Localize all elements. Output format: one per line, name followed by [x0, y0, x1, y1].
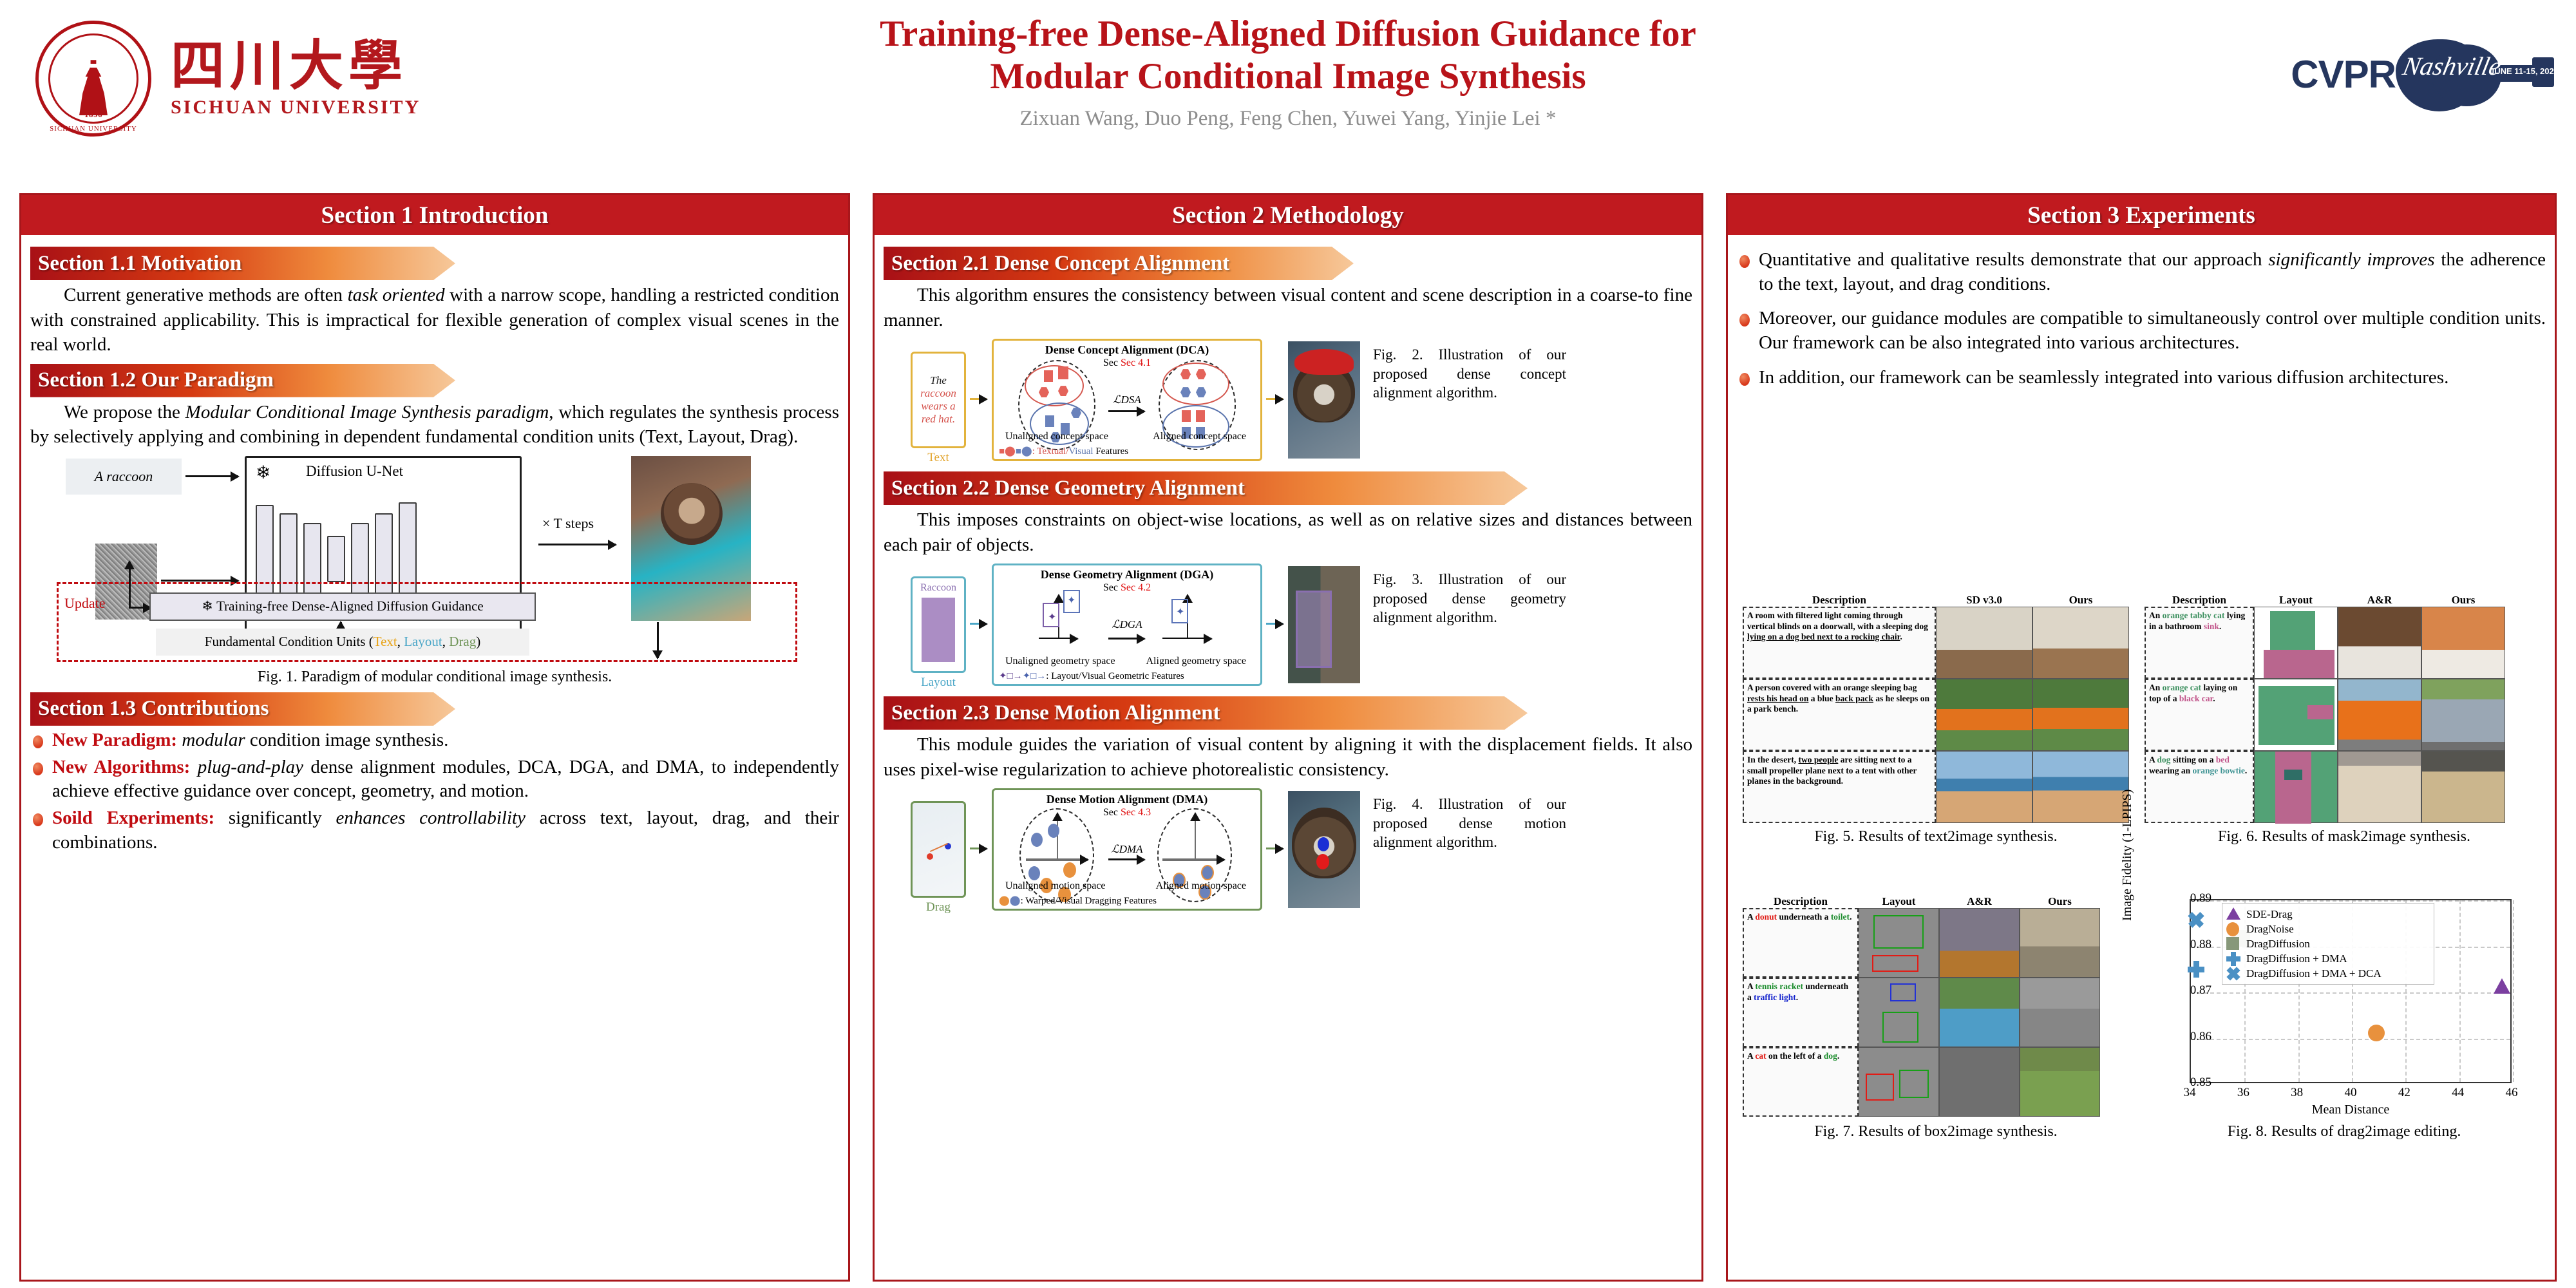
fig6-ours-2	[2421, 679, 2505, 751]
snowflake-icon-2: ❄	[202, 598, 213, 614]
cvpr-city: Nashville	[2400, 51, 2504, 81]
fig2-dca-panel: Dense Concept Alignment (DCA) Sec Sec 4.…	[992, 339, 1262, 461]
fig5-img-2b	[2032, 679, 2129, 751]
table-row: A donut underneath a toilet.	[1743, 908, 2129, 978]
experiments-list: Quantitative and qualitative results dem…	[1737, 248, 2546, 390]
chart-y-tick: 0.89	[2160, 891, 2211, 905]
legend-label: DragNoise	[2246, 923, 2294, 936]
legend-item: DragDiffusion	[2226, 936, 2430, 951]
fig7-ours-3	[2020, 1047, 2100, 1117]
fig6-ours-3	[2421, 751, 2505, 823]
col-header-ours: Ours	[2020, 895, 2100, 908]
col-header-layout: Layout	[2254, 594, 2338, 607]
figure-6-columns: Description Layout A&R Ours	[2145, 594, 2544, 607]
fig7-desc-3: A cat on the left of a dog.	[1743, 1047, 1859, 1117]
chart-y-tick: 0.87	[2160, 983, 2211, 998]
fig7-desc-1: A donut underneath a toilet.	[1743, 908, 1859, 978]
list-item: Moreover, our guidance modules are compa…	[1737, 307, 2546, 355]
fig4-legend: ⬤⬤: Warped/Visual Dragging Features	[999, 895, 1157, 907]
list-item: New Algorithms: plug-and-play dense alig…	[30, 755, 839, 804]
university-name-cn: 四川大學	[171, 39, 421, 93]
list-item: In addition, our framework can be seamle…	[1737, 366, 2546, 390]
fig5-img-2a	[1936, 679, 2032, 751]
chart-x-tick: 46	[2492, 1086, 2531, 1100]
table-row: A room with filtered light coming throug…	[1743, 607, 2129, 679]
chart-x-tick: 38	[2278, 1086, 2316, 1100]
fig1-condition-units: Fundamental Condition Units (Text, Layou…	[156, 629, 529, 656]
fig4-dma-panel: Dense Motion Alignment (DMA) Sec Sec 4.3…	[992, 788, 1262, 911]
fig6-ar-1	[2338, 607, 2421, 679]
fig4-right-label: Aligned motion space	[1156, 880, 1246, 892]
legend-item: DragDiffusion + DMA	[2226, 951, 2430, 966]
col-header-ar: A&R	[2338, 594, 2421, 607]
col-header-ar: A&R	[1939, 895, 2020, 908]
fig6-desc-2: An orange cat laying on top of a black c…	[2145, 679, 2254, 751]
legend-marker-icon	[2226, 967, 2240, 981]
fig6-ar-2	[2338, 679, 2421, 751]
fig1-guidance-box: ❄ Training-free Dense-Aligned Diffusion …	[149, 592, 536, 621]
figure-7-columns: Description Layout A&R Ours	[1743, 895, 2129, 908]
fig3-panel-title: Dense Geometry Alignment (DGA)	[994, 568, 1260, 582]
figure-6-grid: Description Layout A&R Ours An orange ta…	[2145, 594, 2544, 823]
figure-2-caption: Fig. 2. Illustration of our proposed den…	[1373, 345, 1566, 402]
fig7-layout-3	[1859, 1047, 1939, 1117]
fig6-ours-1	[2421, 607, 2505, 679]
col-header-ours: Ours	[2421, 594, 2505, 607]
fig3-legend: ✦□→✦□→: Layout/Visual Geometric Features	[999, 670, 1184, 682]
fig2-legend: ■⬤■⬤: Textual/Visual Features	[999, 445, 1128, 457]
fig1-text-input: A raccoon	[66, 459, 182, 495]
legend-label: DragDiffusion + DMA	[2246, 952, 2347, 965]
fig5-img-3a	[1936, 751, 2032, 823]
chart-y-tick: 0.88	[2160, 938, 2211, 952]
fig4-loss-label: ℒDMA	[1111, 843, 1142, 856]
chart-gridline-v	[2513, 900, 2514, 1082]
fig7-ours-2	[2020, 978, 2100, 1047]
fig2-left-label: Unaligned concept space	[1005, 431, 1108, 442]
fig2-panel-sec: Sec Sec 4.1	[994, 357, 1260, 369]
fig4-drag-input-box	[911, 801, 966, 898]
seal-arc-text: SICHUAN UNIVERSITY	[35, 125, 151, 133]
fig7-ar-1	[1939, 908, 2020, 978]
fig3-layout-input-box: Raccoon	[911, 576, 966, 673]
chart-data-point	[2368, 1025, 2385, 1041]
legend-label: DragDiffusion	[2246, 938, 2310, 951]
fig2-input-label: Text	[911, 451, 966, 465]
title-line-2: Modular Conditional Image Synthesis	[741, 55, 1835, 98]
seal-year: 1896	[84, 109, 102, 120]
legend-item: DragNoise	[2226, 922, 2430, 936]
fig2-right-label: Aligned concept space	[1153, 431, 1246, 442]
fig6-ar-3	[2338, 751, 2421, 823]
section-1-2-banner: Section 1.2 Our Paradigm	[30, 364, 455, 397]
figure-2-diagram: The raccoon wears a red hat. Text Dense …	[884, 336, 1682, 465]
fig4-left-label: Unaligned motion space	[1005, 880, 1106, 892]
fig7-ar-2	[1939, 978, 2020, 1047]
cvpr-logo: CVPR Nashville JUNE 11-15, 2025	[2222, 29, 2557, 119]
legend-marker-icon	[2226, 937, 2240, 951]
fig2-loss-label: ℒDSA	[1113, 393, 1141, 406]
chart-y-tick: 0.85	[2160, 1075, 2211, 1090]
title-block: Training-free Dense-Aligned Diffusion Gu…	[741, 13, 1835, 131]
sichuan-university-logo: 1896 SICHUAN UNIVERSITY 四川大學 SICHUAN UNI…	[35, 14, 486, 143]
legend-label: SDE-Drag	[2246, 908, 2293, 921]
chart-y-axis-label: Image Fidelity (1-LPIPS)	[2120, 790, 2135, 921]
university-seal-icon: 1896 SICHUAN UNIVERSITY	[35, 21, 151, 137]
legend-label: DragDiffusion + DMA + DCA	[2246, 967, 2382, 980]
section-2-1-text: This algorithm ensures the consistency b…	[884, 283, 1692, 332]
fig2-result-image	[1288, 341, 1360, 459]
section-1-3-banner: Section 1.3 Contributions	[30, 692, 455, 726]
table-row: In the desert, two people are sitting ne…	[1743, 751, 2129, 823]
fig5-img-1b	[2032, 607, 2129, 679]
col-header-description: Description	[1743, 594, 1936, 607]
fig3-loss-label: ℒDGA	[1112, 618, 1142, 631]
chart-x-tick: 36	[2224, 1086, 2262, 1100]
page-title: Training-free Dense-Aligned Diffusion Gu…	[741, 13, 1835, 98]
title-line-1: Training-free Dense-Aligned Diffusion Gu…	[741, 13, 1835, 55]
chart-x-tick: 44	[2439, 1086, 2477, 1100]
guitar-icon: Nashville JUNE 11-15, 2025	[2396, 35, 2557, 113]
fig5-desc-3: In the desert, two people are sitting ne…	[1743, 751, 1936, 823]
legend-marker-icon	[2226, 922, 2240, 936]
column-introduction: Section 1 Introduction Section 1.1 Motiv…	[19, 193, 850, 1282]
fig6-layout-2	[2254, 679, 2338, 751]
figure-1-caption: Fig. 1. Paradigm of modular conditional …	[30, 668, 839, 686]
author-list: Zixuan Wang, Duo Peng, Feng Chen, Yuwei …	[741, 107, 1835, 131]
fig7-ar-3	[1939, 1047, 2020, 1117]
poster-header: 1896 SICHUAN UNIVERSITY 四川大學 SICHUAN UNI…	[0, 0, 2576, 193]
fig5-desc-2: A person covered with an orange sleeping…	[1743, 679, 1936, 751]
fig1-update-label: Update	[64, 595, 106, 612]
col-header-description: Description	[1743, 895, 1859, 908]
chart-x-tick: 40	[2331, 1086, 2370, 1100]
section-1-1-text: Current generative methods are often tas…	[30, 283, 839, 357]
figure-6-caption: Fig. 6. Results of mask2image synthesis.	[2145, 828, 2544, 846]
snowflake-icon: ❄	[256, 462, 270, 484]
chart-gridline-h	[2191, 1039, 2510, 1040]
figure-8-caption: Fig. 8. Results of drag2image editing.	[2145, 1123, 2544, 1141]
col-header-ours: Ours	[2032, 594, 2129, 607]
figure-3-caption: Fig. 3. Illustration of our proposed den…	[1373, 570, 1566, 627]
figure-5-caption: Fig. 5. Results of text2image synthesis.	[1743, 828, 2129, 846]
figure-4-diagram: Drag Dense Motion Alignment (DMA) Sec Se…	[884, 786, 1682, 914]
contributions-list: New Paradigm: modular condition image sy…	[30, 728, 839, 855]
section-2-header: Section 2 Methodology	[875, 195, 1701, 235]
fig2-panel-title: Dense Concept Alignment (DCA)	[994, 343, 1260, 357]
fig7-desc-2: A tennis racket underneath a traffic lig…	[1743, 978, 1859, 1047]
chart-gridline-h	[2191, 992, 2510, 994]
university-name-en: SICHUAN UNIVERSITY	[171, 97, 421, 118]
figure-4-caption: Fig. 4. Illustration of our proposed den…	[1373, 795, 1566, 851]
figure-7-caption: Fig. 7. Results of box2image synthesis.	[1743, 1123, 2129, 1141]
list-item: Soild Experiments: significantly enhance…	[30, 806, 839, 855]
fig1-unet-label: Diffusion U-Net	[306, 463, 403, 480]
fig4-input-label: Drag	[911, 900, 966, 914]
fig7-layout-1	[1859, 908, 1939, 978]
table-row: A tennis racket underneath a traffic lig…	[1743, 978, 2129, 1047]
fig6-layout-1	[2254, 607, 2338, 679]
fig2-text-input-box: The raccoon wears a red hat.	[911, 352, 966, 448]
column-methodology: Section 2 Methodology Section 2.1 Dense …	[873, 193, 1703, 1282]
cvpr-date: JUNE 11-15, 2025	[2490, 66, 2559, 76]
fig4-panel-title: Dense Motion Alignment (DMA)	[994, 793, 1260, 806]
list-item: Quantitative and qualitative results dem…	[1737, 248, 2546, 296]
fig6-desc-3: A dog sitting on a bed wearing an orange…	[2145, 751, 2254, 823]
figure-5-columns: Description SD v3.0 Ours	[1743, 594, 2129, 607]
table-row: An orange tabby cat lying in a bathroom …	[2145, 607, 2544, 679]
chart-gridline-h	[2191, 900, 2510, 902]
section-2-3-banner: Section 2.3 Dense Motion Alignment	[884, 696, 1528, 730]
figure-8-chart: Image Fidelity (1-LPIPS) Mean Distance 3…	[2125, 887, 2537, 1119]
fig7-ours-1	[2020, 908, 2100, 978]
legend-marker-icon	[2226, 907, 2240, 922]
figure-3-diagram: Raccoon Layout Dense Geometry Alignment …	[884, 561, 1682, 690]
chart-y-tick: 0.86	[2160, 1030, 2211, 1044]
section-2-1-banner: Section 2.1 Dense Concept Alignment	[884, 247, 1354, 280]
chart-x-tick: 42	[2385, 1086, 2423, 1100]
figure-7-grid: Description Layout A&R Ours A donut unde…	[1743, 895, 2129, 1117]
chart-data-point	[2188, 961, 2204, 978]
legend-item: SDE-Drag	[2226, 907, 2430, 922]
chart-gridline-v	[2459, 900, 2461, 1082]
fig3-right-label: Aligned geometry space	[1146, 656, 1247, 667]
section-3-header: Section 3 Experiments	[1728, 195, 2555, 235]
fig5-desc-1: A room with filtered light coming throug…	[1743, 607, 1936, 679]
chart-data-point	[2188, 911, 2204, 928]
table-row: A dog sitting on a bed wearing an orange…	[2145, 751, 2544, 823]
figure-1-diagram: A raccoon ❄ Diffusion U-Net × T steps Up…	[52, 453, 818, 666]
section-1-1-banner: Section 1.1 Motivation	[30, 247, 455, 280]
fig5-img-1a	[1936, 607, 2032, 679]
fig1-steps-label: × T steps	[542, 515, 594, 532]
chart-x-axis-label: Mean Distance	[2190, 1103, 2512, 1117]
fig3-panel-sec: Sec Sec 4.2	[994, 582, 1260, 594]
section-1-2-text: We propose the Modular Conditional Image…	[30, 400, 839, 450]
fig6-layout-3	[2254, 751, 2338, 823]
section-2-2-text: This imposes constraints on object-wise …	[884, 507, 1692, 557]
table-row: A person covered with an orange sleeping…	[1743, 679, 2129, 751]
col-header-sdv3: SD v3.0	[1936, 594, 2032, 607]
col-header-layout: Layout	[1859, 895, 1939, 908]
fig4-result-image	[1288, 791, 1360, 908]
chart-legend: SDE-DragDragNoiseDragDiffusionDragDiffus…	[2222, 903, 2434, 985]
fig7-layout-2	[1859, 978, 1939, 1047]
section-2-2-banner: Section 2.2 Dense Geometry Alignment	[884, 471, 1528, 505]
fig3-result-image	[1288, 566, 1360, 683]
cvpr-wordmark: CVPR	[2291, 52, 2396, 97]
fig3-dga-panel: Dense Geometry Alignment (DGA) Sec Sec 4…	[992, 563, 1262, 686]
legend-item: DragDiffusion + DMA + DCA	[2226, 966, 2430, 981]
col-header-description: Description	[2145, 594, 2254, 607]
fig3-left-label: Unaligned geometry space	[1005, 656, 1115, 667]
chart-data-point	[2494, 978, 2510, 994]
figure-5-grid: Description SD v3.0 Ours A room with fil…	[1743, 594, 2129, 823]
list-item: New Paradigm: modular condition image sy…	[30, 728, 839, 753]
fig6-desc-1: An orange tabby cat lying in a bathroom …	[2145, 607, 2254, 679]
section-1-header: Section 1 Introduction	[21, 195, 848, 235]
fig5-img-3b	[2032, 751, 2129, 823]
section-2-3-text: This module guides the variation of visu…	[884, 732, 1692, 782]
table-row: A cat on the left of a dog.	[1743, 1047, 2129, 1117]
fig3-input-label: Layout	[911, 676, 966, 690]
table-row: An orange cat laying on top of a black c…	[2145, 679, 2544, 751]
fig4-panel-sec: Sec Sec 4.3	[994, 807, 1260, 819]
